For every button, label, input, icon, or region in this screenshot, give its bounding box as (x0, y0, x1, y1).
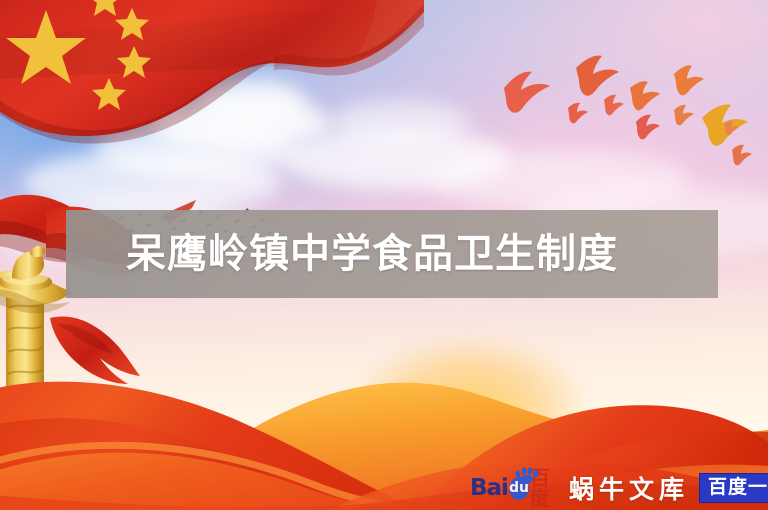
baidu-search-button[interactable]: 百度一下 (699, 473, 768, 504)
bird-icon (604, 95, 624, 116)
baidu-logo-latin: Bai (470, 477, 508, 500)
bird-icon (732, 145, 752, 166)
bird-icon (504, 72, 550, 113)
page-title: 呆鹰岭镇中学食品卫生制度 (126, 234, 618, 274)
site-name[interactable]: 蜗牛文库 (569, 470, 689, 506)
bird-icon (674, 105, 694, 126)
branding-bar: Bai du 百度 蜗牛文库 百度一下 (470, 470, 768, 506)
bird-icon (636, 115, 660, 140)
chinese-flag-illustration (0, 0, 424, 190)
bird-icon (576, 56, 619, 96)
birds-flock-illustration (480, 40, 768, 170)
baidu-paw-icon (514, 467, 540, 483)
bird-icon (630, 81, 660, 110)
baidu-logo[interactable]: Bai du 百度 (470, 473, 557, 503)
bird-icon (674, 65, 704, 95)
bird-icon (568, 103, 588, 124)
document-title-banner: 呆鹰岭镇中学食品卫生制度 (66, 210, 718, 298)
poster-canvas: 呆鹰岭镇中学食品卫生制度 Bai du 百度 蜗牛文库 百度一下 (0, 0, 768, 510)
